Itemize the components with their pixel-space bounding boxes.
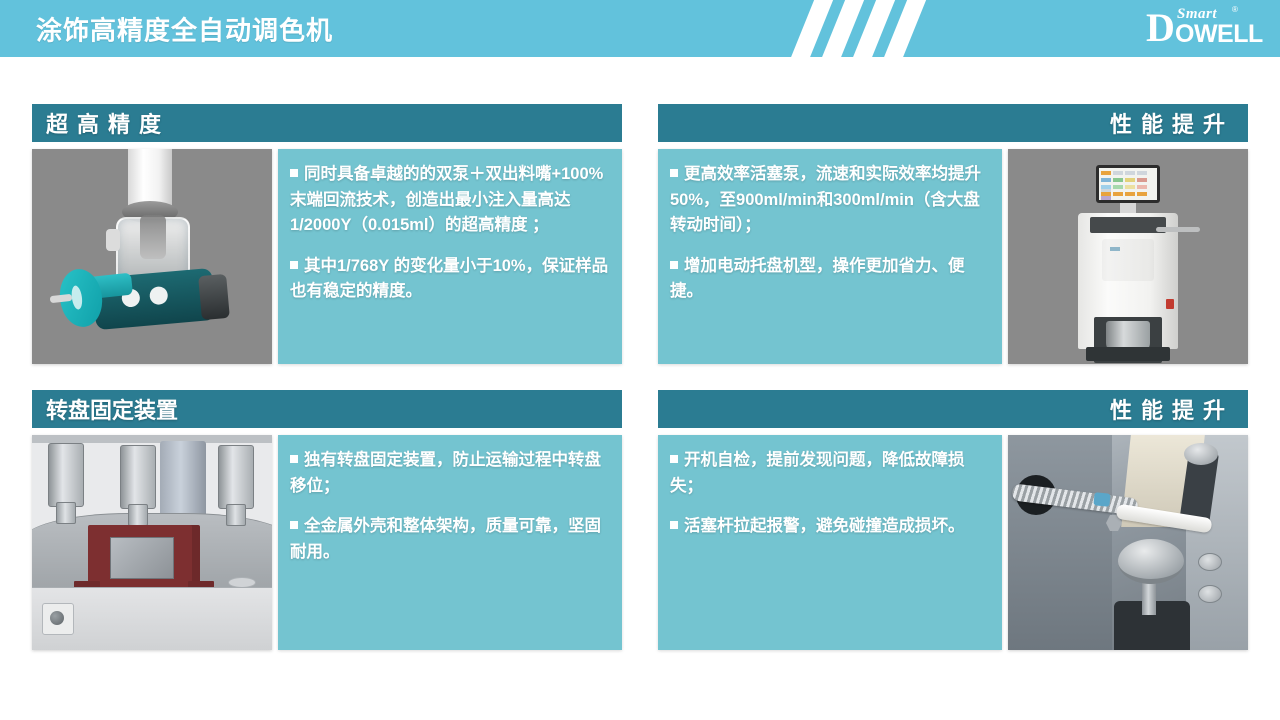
panel-header-bar: 性能提升 bbox=[658, 104, 1248, 142]
logo-initial: D bbox=[1146, 8, 1175, 48]
bullet-square-icon bbox=[290, 261, 298, 269]
feature-paragraph: 全金属外壳和整体架构，质量可靠，坚固耐用。 bbox=[290, 514, 610, 565]
feature-paragraph: 其中1/768Y 的变化量小于10%，保证样品也有稳定的精度。 bbox=[290, 254, 610, 305]
panel-performance-upgrade-top: 性能提升 更高效率活塞泵，流速和实际效率均提升50%，至900ml/min和30… bbox=[658, 104, 1248, 364]
feature-paragraph: 活塞杆拉起报警，避免碰撞造成损坏。 bbox=[670, 514, 990, 540]
feature-paragraph: 更高效率活塞泵，流速和实际效率均提升50%，至900ml/min和300ml/m… bbox=[670, 162, 990, 239]
dowell-smart-logo: D Smart ® OWELL bbox=[1144, 4, 1262, 52]
panel-header-bar: 超高精度 bbox=[32, 104, 622, 142]
feature-paragraph: 开机自检，提前发现问题，降低故障损失； bbox=[670, 448, 990, 499]
page-title: 涂饰高精度全自动调色机 bbox=[36, 10, 333, 47]
pump-dispensing-head-render bbox=[32, 149, 272, 364]
panel-text-block: 开机自检，提前发现问题，降低故障损失； 活塞杆拉起报警，避免碰撞造成损坏。 bbox=[658, 435, 1002, 650]
panel-turntable-lock: 转盘固定装置 独有转盘固定装置，防止运输过程中转盘移位； 全金属外壳和整体架构，… bbox=[32, 390, 622, 650]
panel-content: 独有转盘固定装置，防止运输过程中转盘移位； 全金属外壳和整体架构，质量可靠，坚固… bbox=[32, 435, 622, 650]
panel-ultra-precision: 超高精度 同时具备卓越的的双泵＋双出料嘴+100%末端回流技术，创造出最小注入量… bbox=[32, 104, 622, 364]
diagonal-stripes-decoration bbox=[800, 0, 930, 57]
bullet-square-icon bbox=[290, 521, 298, 529]
feature-paragraph: 增加电动托盘机型，操作更加省力、便捷。 bbox=[670, 254, 990, 305]
panel-content: 开机自检，提前发现问题，降低故障损失； 活塞杆拉起报警，避免碰撞造成损坏。 bbox=[658, 435, 1248, 650]
panel-header-bar: 性能提升 bbox=[658, 390, 1248, 428]
bullet-square-icon bbox=[290, 455, 298, 463]
panel-text-block: 独有转盘固定装置，防止运输过程中转盘移位； 全金属外壳和整体架构，质量可靠，坚固… bbox=[278, 435, 622, 650]
bullet-square-icon bbox=[670, 169, 678, 177]
panel-heading-text: 超高精度 bbox=[46, 107, 170, 139]
bullet-square-icon bbox=[290, 169, 298, 177]
bullet-square-icon bbox=[670, 521, 678, 529]
feature-paragraph: 同时具备卓越的的双泵＋双出料嘴+100%末端回流技术，创造出最小注入量高达1/2… bbox=[290, 162, 610, 239]
dispensing-machine-photo bbox=[1008, 149, 1248, 364]
page-header: 涂饰高精度全自动调色机 D Smart ® OWELL bbox=[0, 0, 1280, 57]
panel-heading-text: 转盘固定装置 bbox=[46, 393, 178, 425]
panel-content: 更高效率活塞泵，流速和实际效率均提升50%，至900ml/min和300ml/m… bbox=[658, 149, 1248, 364]
turntable-lock-cad-render bbox=[32, 435, 272, 650]
panel-text-block: 更高效率活塞泵，流速和实际效率均提升50%，至900ml/min和300ml/m… bbox=[658, 149, 1002, 364]
panel-content: 同时具备卓越的的双泵＋双出料嘴+100%末端回流技术，创造出最小注入量高达1/2… bbox=[32, 149, 622, 364]
registered-trademark-icon: ® bbox=[1232, 5, 1238, 14]
panel-header-bar: 转盘固定装置 bbox=[32, 390, 622, 428]
bullet-square-icon bbox=[670, 261, 678, 269]
panel-performance-upgrade-bottom: 性能提升 开机自检，提前发现问题，降低故障损失； 活塞杆拉起报警，避免碰撞造成损… bbox=[658, 390, 1248, 650]
piston-rod-alarm-photo bbox=[1008, 435, 1248, 650]
bullet-square-icon bbox=[670, 455, 678, 463]
panel-heading-text: 性能提升 bbox=[1110, 393, 1234, 425]
logo-name-text: OWELL bbox=[1175, 22, 1263, 47]
panel-text-block: 同时具备卓越的的双泵＋双出料嘴+100%末端回流技术，创造出最小注入量高达1/2… bbox=[278, 149, 622, 364]
feature-paragraph: 独有转盘固定装置，防止运输过程中转盘移位； bbox=[290, 448, 610, 499]
panel-heading-text: 性能提升 bbox=[1110, 107, 1234, 139]
